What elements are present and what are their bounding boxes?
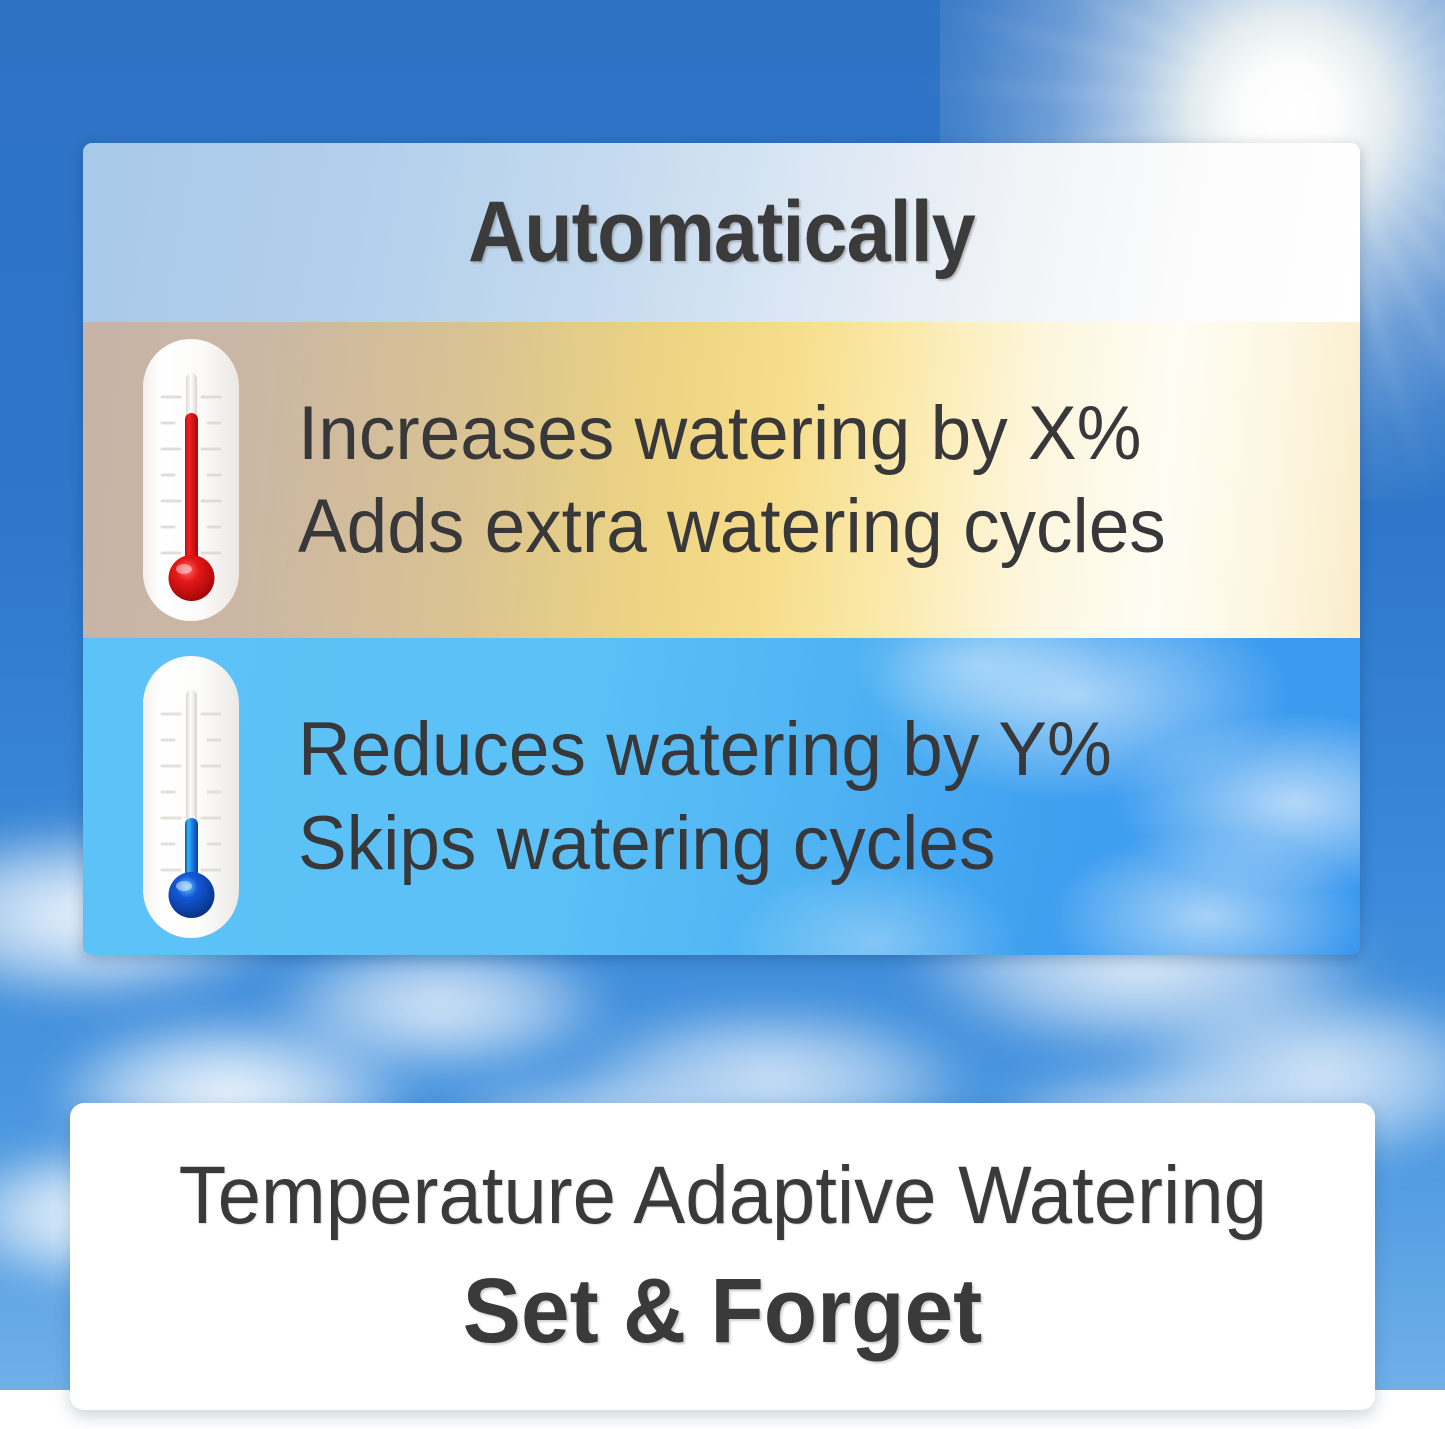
feature-row-hot-text: Increases watering by X% Adds extra wate… — [298, 394, 1202, 566]
thermometer-cold-icon — [83, 652, 298, 942]
page-title: Automatically — [468, 183, 975, 282]
feature-line: Adds extra watering cycles — [298, 487, 1166, 566]
feature-line: Skips watering cycles — [298, 804, 1112, 883]
caption-card: Temperature Adaptive Watering Set & Forg… — [70, 1103, 1375, 1410]
feature-row-cold: Reduces watering by Y% Skips watering cy… — [83, 638, 1360, 955]
feature-line: Increases watering by X% — [298, 394, 1166, 473]
feature-line: Reduces watering by Y% — [298, 710, 1112, 789]
poster-stage: Automatically — [0, 0, 1445, 1429]
feature-row-hot: Increases watering by X% Adds extra wate… — [83, 322, 1360, 638]
feature-card: Automatically — [83, 143, 1360, 955]
thermometer-hot-icon — [83, 335, 298, 625]
card-header: Automatically — [83, 143, 1360, 322]
caption-headline: Temperature Adaptive Watering — [178, 1149, 1266, 1243]
feature-row-cold-text: Reduces watering by Y% Skips watering cy… — [298, 710, 1146, 882]
caption-tagline: Set & Forget — [463, 1259, 983, 1364]
